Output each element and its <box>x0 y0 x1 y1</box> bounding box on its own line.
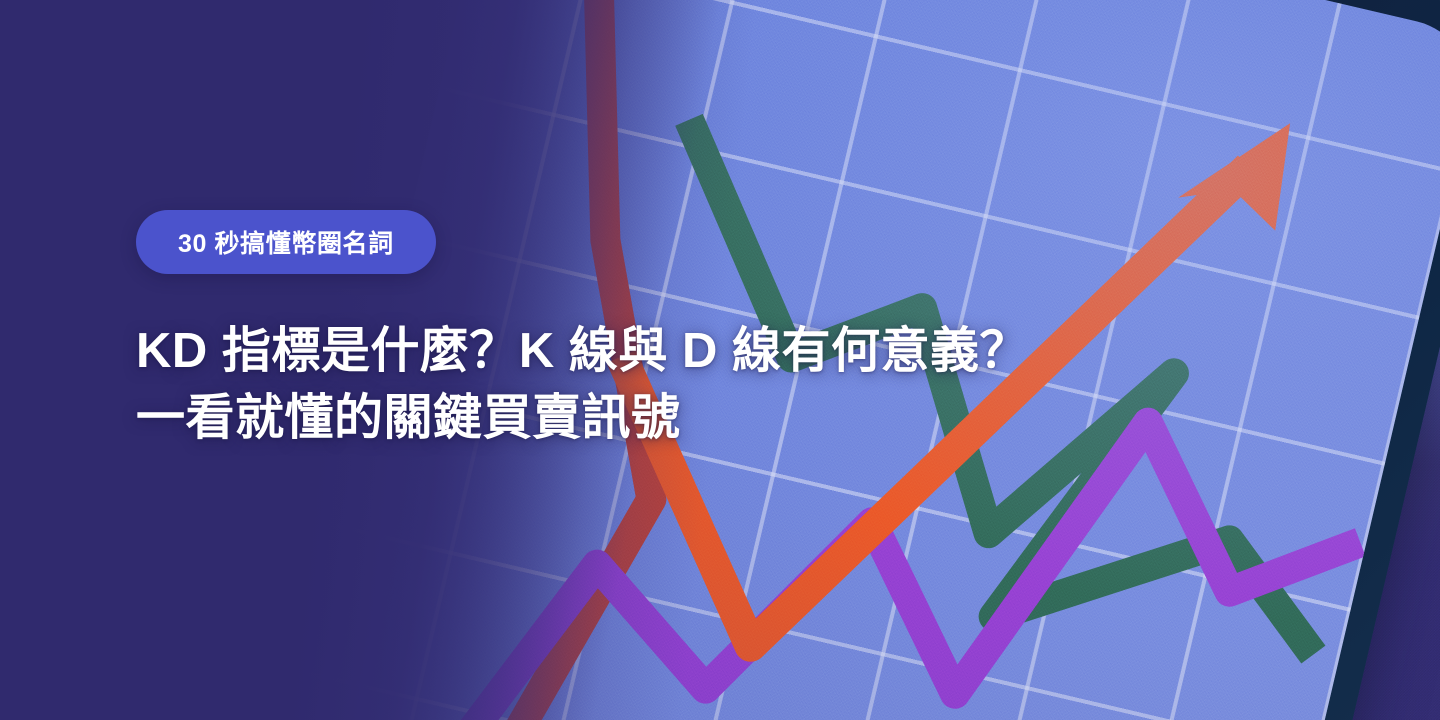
category-badge[interactable]: 30 秒搞懂幣圈名詞 <box>136 210 436 274</box>
headline-line-2: 一看就懂的關鍵買賣訊號 <box>136 385 1306 452</box>
page-title: KD 指標是什麼？K 線與 D 線有何意義？ 一看就懂的關鍵買賣訊號 <box>136 318 1306 451</box>
hero-content: 30 秒搞懂幣圈名詞 KD 指標是什麼？K 線與 D 線有何意義？ 一看就懂的關… <box>136 0 1316 720</box>
headline-line-1: KD 指標是什麼？K 線與 D 線有何意義？ <box>136 318 1306 385</box>
hero-banner: 30 秒搞懂幣圈名詞 KD 指標是什麼？K 線與 D 線有何意義？ 一看就懂的關… <box>0 0 1440 720</box>
